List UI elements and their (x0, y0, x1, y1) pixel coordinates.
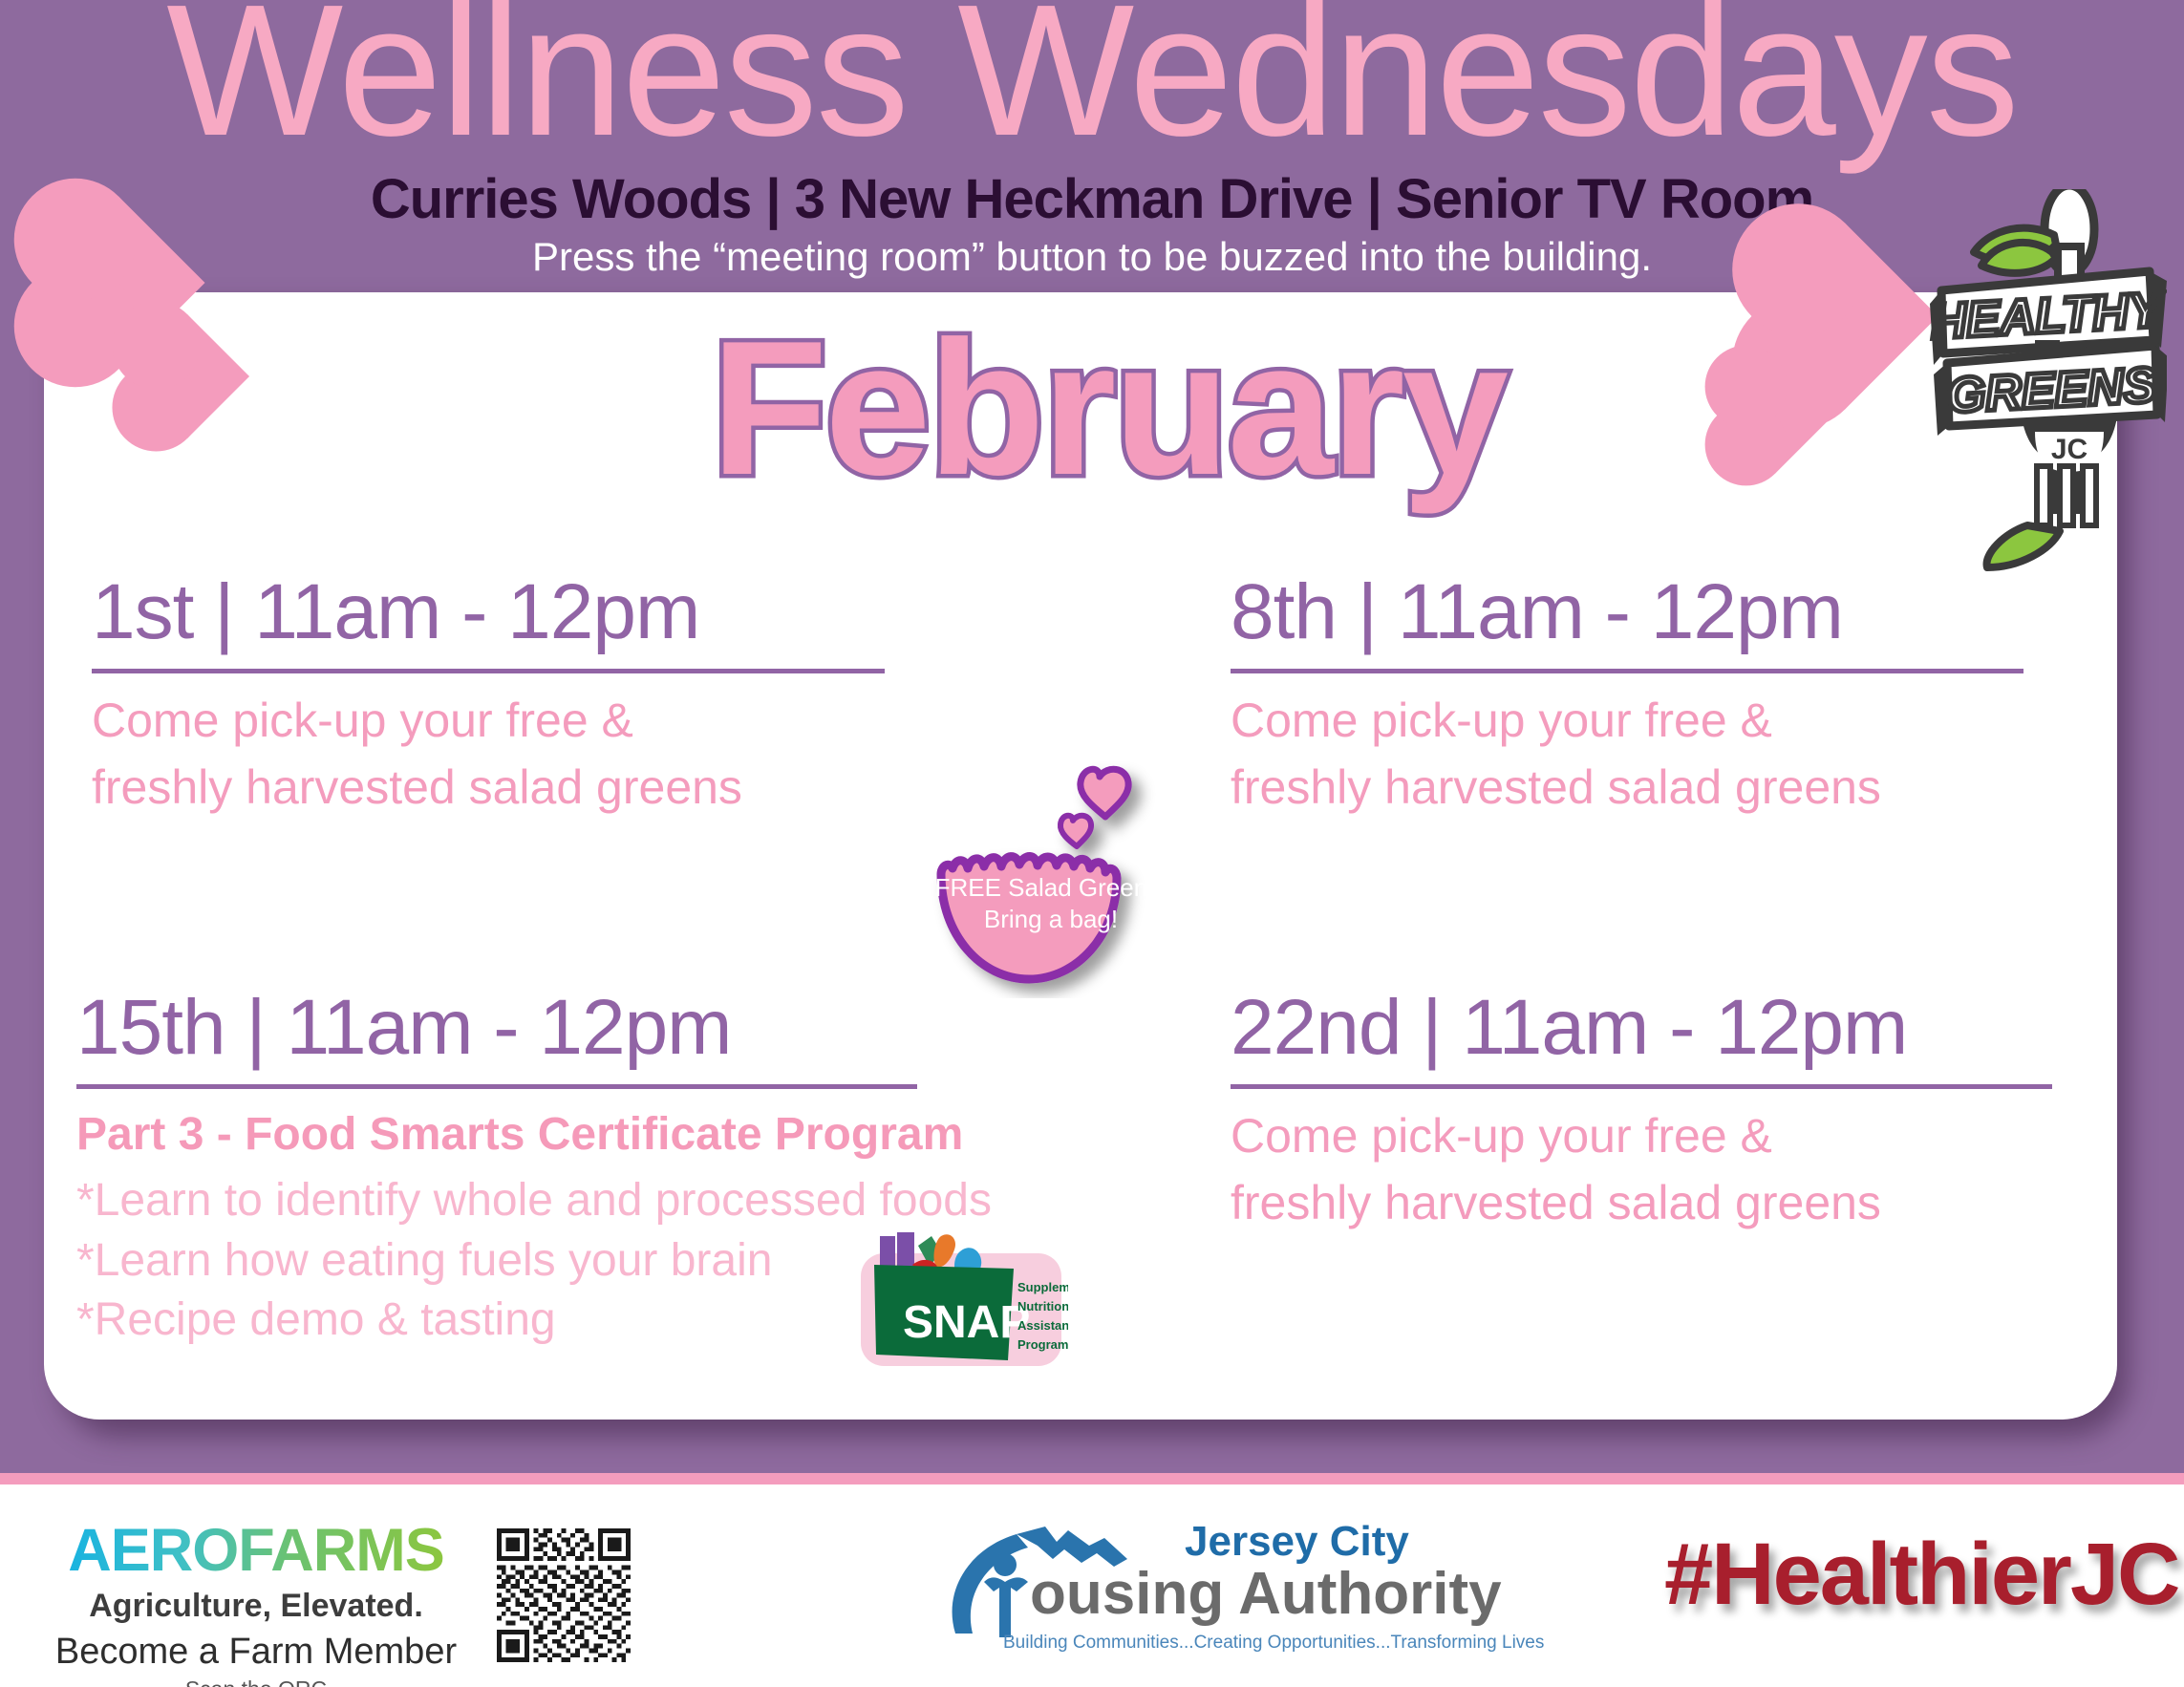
event-block: 22nd | 11am - 12pm Come pick-up your fre… (1231, 989, 2052, 1234)
event-block: 8th | 11am - 12pm Come pick-up your free… (1231, 573, 2023, 819)
event-block: 1st | 11am - 12pm Come pick-up your free… (92, 573, 885, 819)
event-heading: 22nd | 11am - 12pm (1231, 989, 2052, 1067)
svg-text:Assistance: Assistance (1017, 1318, 1068, 1333)
svg-text:Nutrition: Nutrition (1017, 1299, 1068, 1313)
program-bullet: *Learn how eating fuels your brain (76, 1231, 917, 1291)
aerofarms-wordmark: AEROFARMS (36, 1521, 476, 1581)
program-bullet: *Learn to identify whole and processed f… (76, 1171, 917, 1230)
event-desc-line-1: Come pick-up your free & (1231, 1104, 2052, 1167)
event-rule (1231, 669, 2023, 673)
event-desc-line-1: Come pick-up your free & (92, 689, 885, 752)
event-heading: 1st | 11am - 12pm (92, 573, 885, 651)
event-desc-line-2: freshly harvested salad greens (1231, 756, 2023, 819)
page-title: Wellness Wednesdays (0, 0, 2184, 164)
jcha-logo: Jersey City ousing Authority Building Co… (946, 1519, 1424, 1662)
svg-text:Supplemental: Supplemental (1017, 1280, 1068, 1294)
jcha-line-top: Jersey City (1185, 1521, 1409, 1563)
aerofarms-cta: Become a Farm Member (36, 1634, 476, 1670)
healthy-greens-logo: JC HEALTHY GREENS (1928, 189, 2167, 571)
fork-jc-mark: JC (2051, 434, 2088, 465)
jcha-tagline: Building Communities...Creating Opportun… (1003, 1634, 1544, 1652)
bowl-hearts-icon (1060, 769, 1128, 846)
venue-line: Curries Woods | 3 New Heckman Drive | Se… (0, 172, 2184, 227)
event-desc-line-1: Come pick-up your free & (1231, 689, 2023, 752)
bowl-shape (941, 856, 1117, 979)
svg-text:February: February (711, 304, 1509, 515)
event-desc-line-2: freshly harvested salad greens (92, 756, 885, 819)
salad-bowl-badge: FREE Salad Greens. Bring a bag! (912, 759, 1189, 998)
pink-divider (0, 1473, 2184, 1484)
snap-logo: SNAP Supplemental Nutrition Assistance P… (853, 1230, 1068, 1374)
healthierjc-hashtag: #HealthierJC (1664, 1530, 2178, 1618)
event-heading: 8th | 11am - 12pm (1231, 573, 2023, 651)
event-heading: 15th | 11am - 12pm (76, 989, 917, 1067)
program-bullet: *Recipe demo & tasting (76, 1291, 917, 1350)
svg-text:Program: Program (1017, 1337, 1068, 1352)
flyer-root: Wellness Wednesdays Curries Woods | 3 Ne… (0, 0, 2184, 1687)
healthy-greens-ribbon: HEALTHY GREENS (1929, 271, 2167, 436)
month-title: February (659, 304, 1557, 523)
event-desc-line-2: freshly harvested salad greens (1231, 1171, 2052, 1234)
aerofarms-tagline: Agriculture, Elevated. (36, 1590, 476, 1622)
event-rule (76, 1084, 917, 1089)
aerofarms-scan-note: Scan the QRC (36, 1678, 476, 1687)
program-title: Part 3 - Food Smarts Certificate Program (76, 1106, 917, 1164)
leaf-icon (1987, 525, 2060, 567)
event-rule (92, 669, 885, 673)
svg-text:GREENS: GREENS (1945, 357, 2158, 423)
qr-code[interactable] (497, 1528, 631, 1662)
event-block: 15th | 11am - 12pm Part 3 - Food Smarts … (76, 989, 917, 1351)
snap-acronym: SNAP (903, 1297, 1030, 1348)
event-rule (1231, 1084, 2052, 1089)
jcha-line-main: ousing Authority (1030, 1565, 1502, 1624)
aerofarms-logo: AEROFARMS Agriculture, Elevated. Become … (36, 1521, 476, 1687)
